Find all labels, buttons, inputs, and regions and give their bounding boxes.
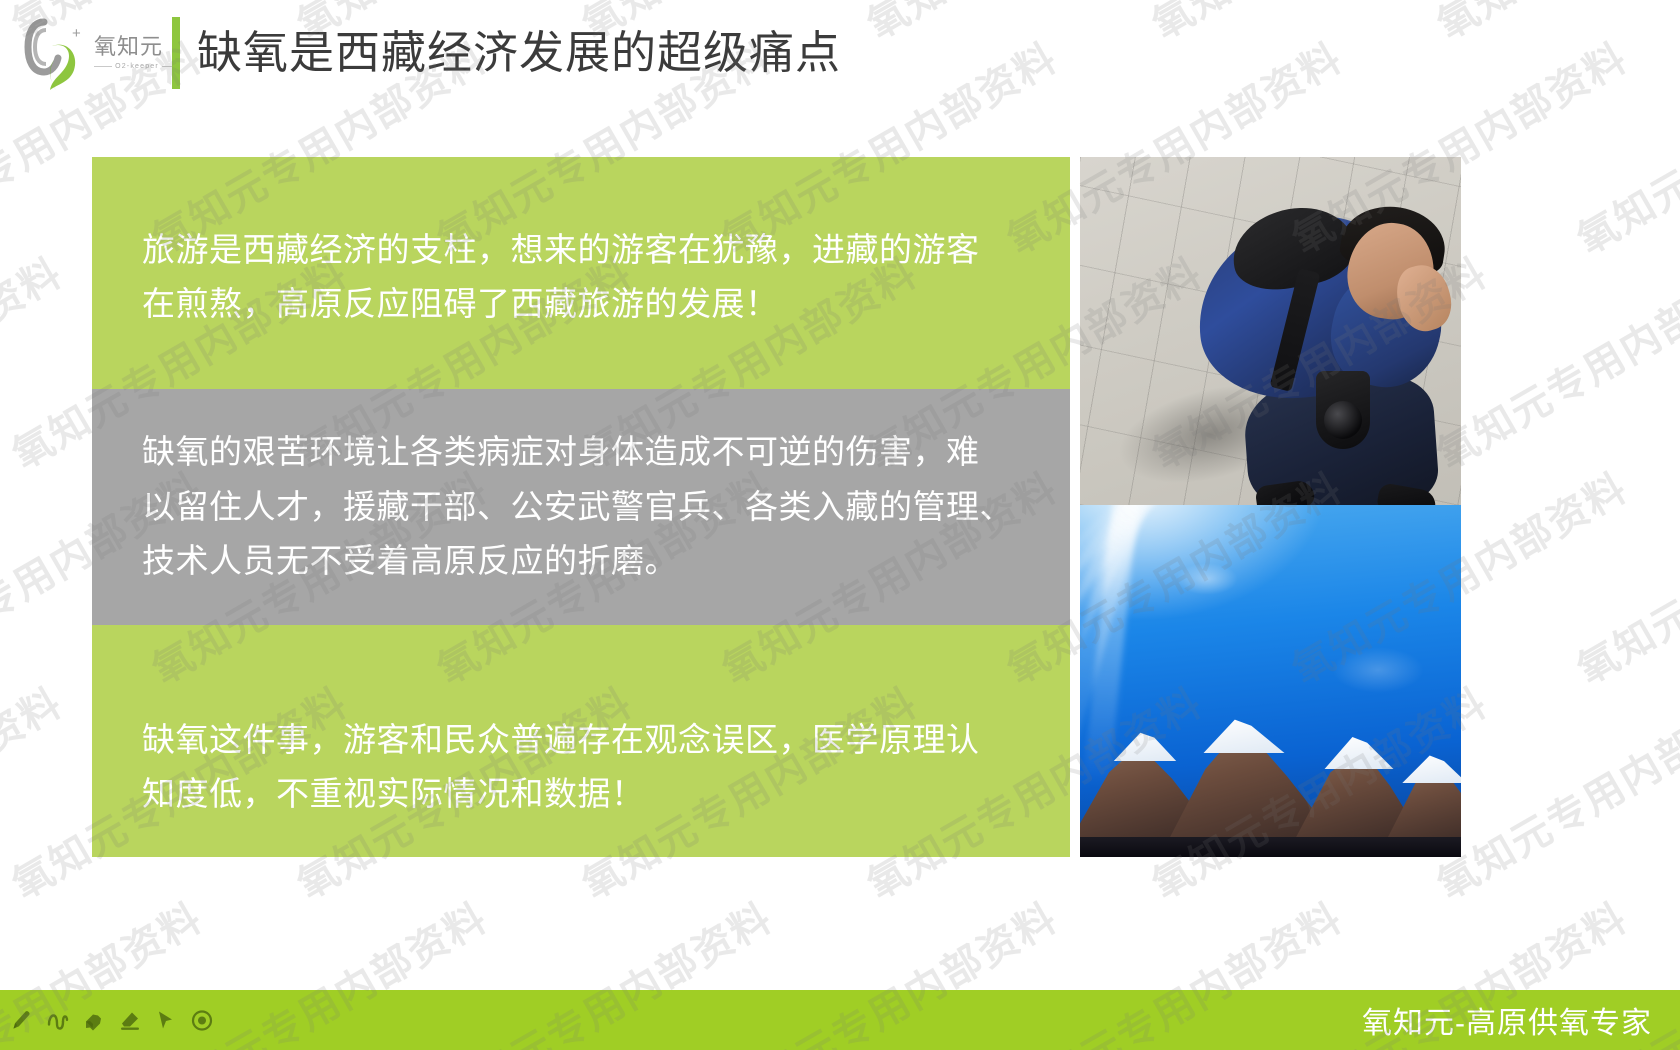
block-2-line-2: 以留住人才，援藏干部、公安武警官兵、各类入藏的管理、 — [142, 480, 1020, 534]
snow-mountain-photo — [1080, 505, 1461, 857]
block-2-text: 缺氧的艰苦环境让各类病症对身体造成不可逆的伤害，难 以留住人才，援藏干部、公安武… — [92, 425, 1070, 588]
content-block-talent: 缺氧的艰苦环境让各类病症对身体造成不可逆的伤害，难 以留住人才，援藏干部、公安武… — [92, 389, 1070, 625]
slide-header: + 氧知元 O2-keeper 缺氧是西藏经济发展的超级痛点 — [0, 0, 1680, 120]
o2-plus-logo-icon: + — [24, 16, 92, 96]
logo-english-name: O2-keeper — [112, 63, 162, 70]
block-1-line-2: 在煎熬，高原反应阻碍了西藏旅游的发展！ — [142, 277, 1020, 331]
snow-cap — [1106, 731, 1184, 761]
logo-english-row: O2-keeper — [94, 63, 180, 70]
block-3-text: 缺氧这件事，游客和民众普遍存在观念误区，医学原理认 知度低，不重视实际情况和数据… — [92, 661, 1070, 822]
watermark-text: 氧知元专用内部资料 — [0, 671, 71, 910]
lens-flare — [1176, 563, 1238, 595]
block-2-line-3: 技术人员无不受着高原反应的折磨。 — [142, 534, 1020, 588]
snow-cap — [1318, 737, 1400, 769]
footer-bar: 氧知元-高原供氧专家 — [0, 990, 1680, 1050]
brand-logo: + 氧知元 O2-keeper — [22, 12, 172, 98]
svg-text:+: + — [72, 25, 81, 42]
eraser-icon[interactable] — [116, 1007, 143, 1034]
watermark-text: 氧知元专用内部资料 — [1425, 671, 1680, 910]
tourist-altitude-sickness-photo — [1080, 157, 1461, 505]
snow-cap — [1198, 719, 1290, 753]
ink-annotation-toolbar[interactable] — [8, 1007, 215, 1034]
watermark-text: 氧知元专用内部资料 — [1425, 241, 1680, 480]
block-3-line-1: 缺氧这件事，游客和民众普遍存在观念误区，医学原理认 — [142, 713, 1020, 767]
pointer-arrow-icon[interactable] — [152, 1007, 179, 1034]
page-title: 缺氧是西藏经济发展的超级痛点 — [197, 24, 841, 83]
content-block-tourism: 旅游是西藏经济的支柱，想来的游客在犹豫，进藏的游客 在煎熬，高原反应阻碍了西藏旅… — [92, 157, 1070, 389]
watermark-text: 氧知元专用内部资料 — [1565, 456, 1680, 695]
foreground-terrain — [1080, 837, 1461, 857]
block-1-text: 旅游是西藏经济的支柱，想来的游客在犹豫，进藏的游客 在煎熬，高原反应阻碍了西藏旅… — [92, 215, 1070, 332]
highlighter-icon[interactable] — [80, 1007, 107, 1034]
pen-icon[interactable] — [8, 1007, 35, 1034]
logo-rule-left — [94, 66, 112, 67]
mountain-range — [1080, 707, 1461, 857]
logo-wordmark: 氧知元 O2-keeper — [94, 36, 174, 70]
footer-brand-text: 氧知元-高原供氧专家 — [1362, 998, 1652, 1042]
laser-pointer-icon[interactable] — [188, 1007, 215, 1034]
lens-flare — [1332, 647, 1424, 693]
presentation-slide: + 氧知元 O2-keeper 缺氧是西藏经济发展的超级痛点 旅游是西藏经济的支… — [0, 0, 1680, 1050]
block-3-line-2: 知度低，不重视实际情况和数据！ — [142, 767, 1020, 821]
block-1-line-1: 旅游是西藏经济的支柱，想来的游客在犹豫，进藏的游客 — [142, 223, 1020, 277]
snow-cap — [1398, 755, 1461, 783]
title-accent-bar — [172, 17, 180, 89]
dslr-camera — [1316, 371, 1370, 449]
block-2-line-1: 缺氧的艰苦环境让各类病症对身体造成不可逆的伤害，难 — [142, 425, 1020, 479]
content-block-awareness: 缺氧这件事，游客和民众普遍存在观念误区，医学原理认 知度低，不重视实际情况和数据… — [92, 625, 1070, 857]
watermark-text: 氧知元专用内部资料 — [0, 241, 71, 480]
ink-squiggle-icon[interactable] — [44, 1007, 71, 1034]
logo-chinese-name: 氧知元 — [94, 36, 174, 58]
